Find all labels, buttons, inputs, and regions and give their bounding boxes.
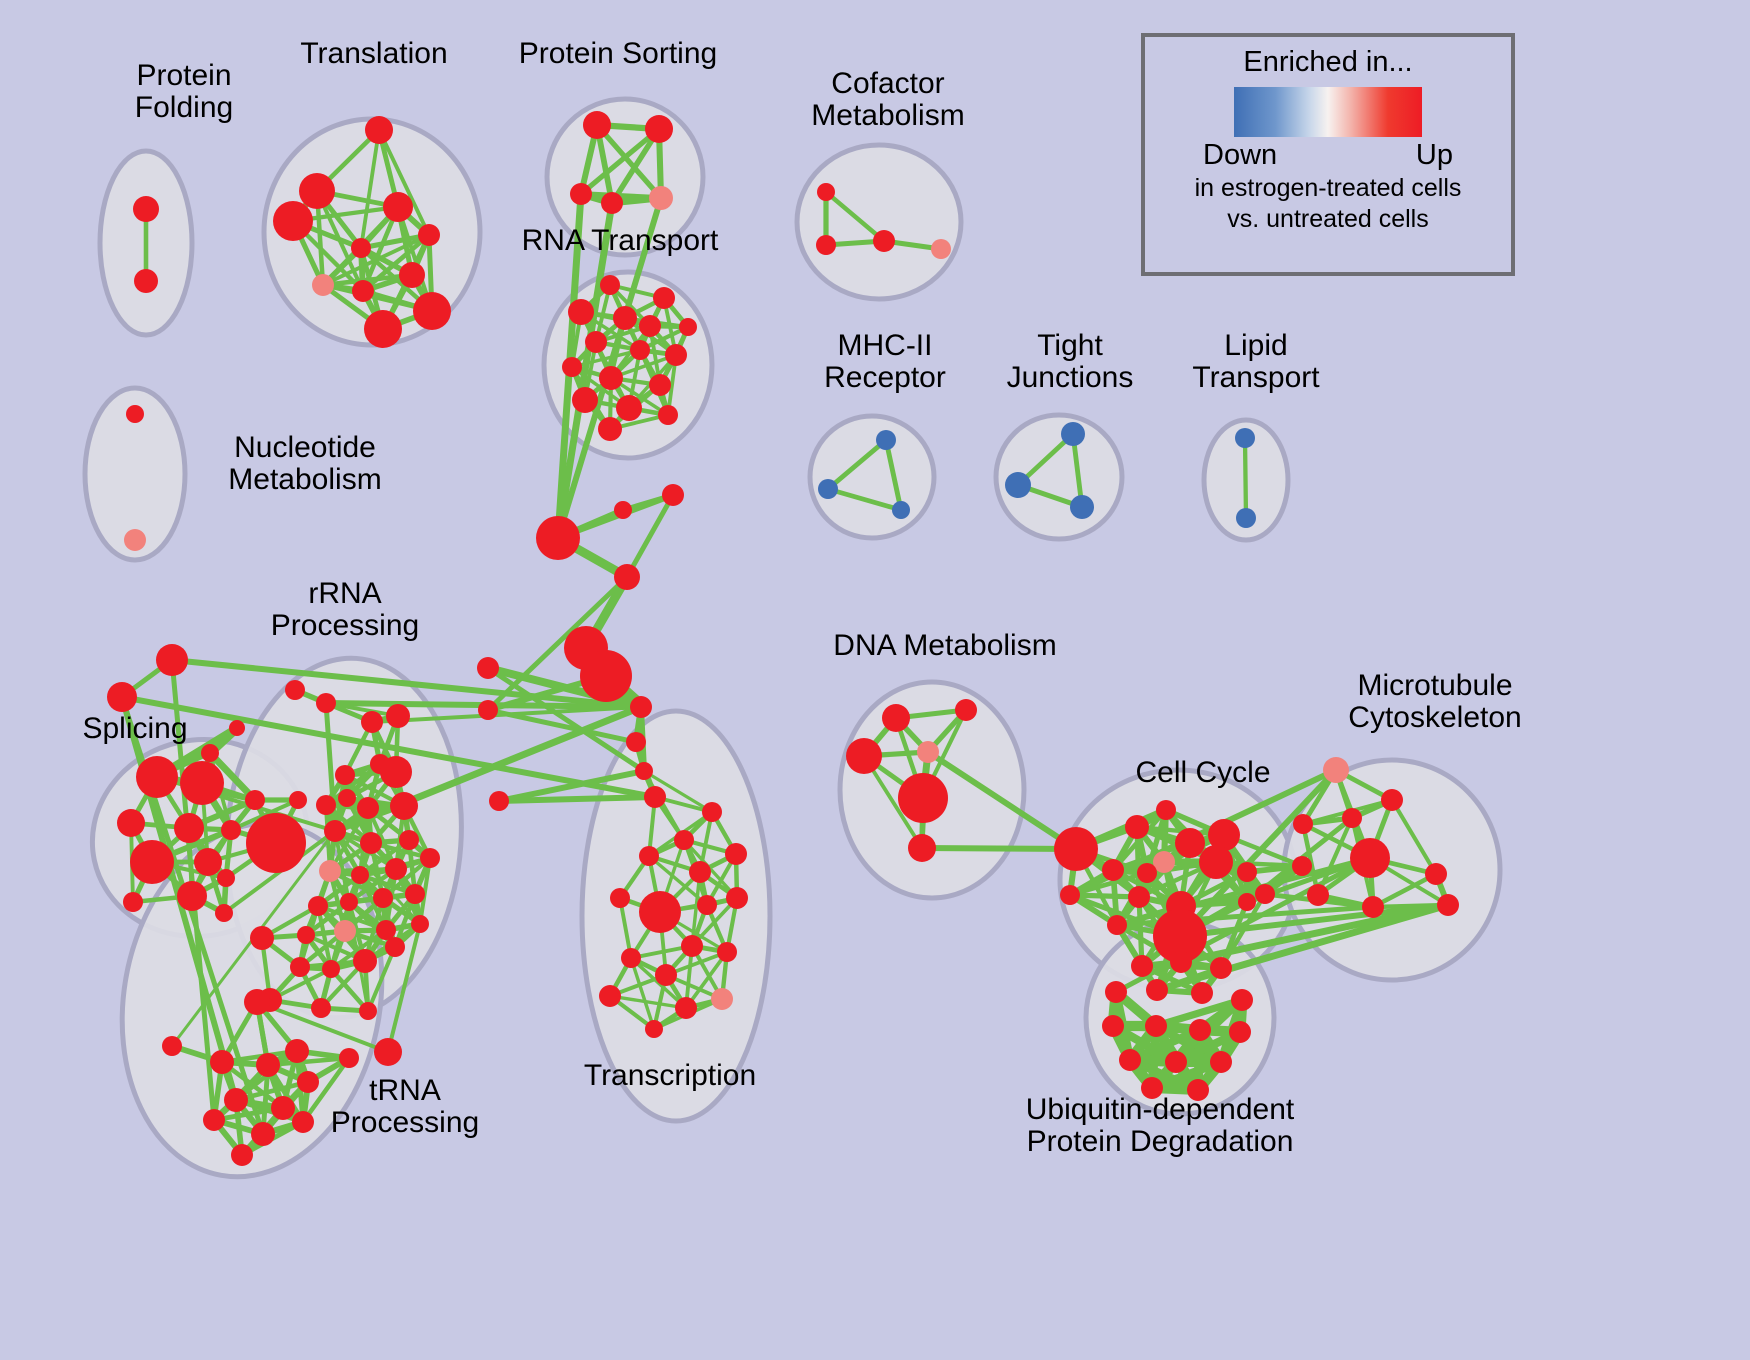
- network-node[interactable]: [312, 274, 334, 296]
- network-edge: [1245, 438, 1246, 518]
- network-node[interactable]: [598, 417, 622, 441]
- network-node[interactable]: [136, 756, 178, 798]
- network-node[interactable]: [221, 820, 241, 840]
- network-node[interactable]: [630, 696, 652, 718]
- network-node[interactable]: [352, 280, 374, 302]
- network-node[interactable]: [322, 960, 340, 978]
- network-node[interactable]: [689, 861, 711, 883]
- network-node[interactable]: [126, 405, 144, 423]
- network-node[interactable]: [536, 516, 580, 560]
- network-node[interactable]: [390, 792, 418, 820]
- network-node[interactable]: [478, 700, 498, 720]
- network-node[interactable]: [271, 1096, 295, 1120]
- network-node[interactable]: [816, 235, 836, 255]
- network-node[interactable]: [717, 942, 737, 962]
- network-node[interactable]: [1146, 979, 1168, 1001]
- network-node[interactable]: [639, 315, 661, 337]
- network-node[interactable]: [931, 239, 951, 259]
- network-node[interactable]: [882, 704, 910, 732]
- network-node[interactable]: [614, 564, 640, 590]
- network-node[interactable]: [289, 791, 307, 809]
- network-node[interactable]: [1005, 472, 1031, 498]
- network-node[interactable]: [340, 893, 358, 911]
- network-node[interactable]: [177, 881, 207, 911]
- legend-down-label: Down: [1203, 139, 1277, 172]
- network-node[interactable]: [1107, 915, 1127, 935]
- network-node[interactable]: [385, 937, 405, 957]
- network-node[interactable]: [324, 820, 346, 842]
- network-node[interactable]: [399, 830, 419, 850]
- network-node[interactable]: [374, 1038, 402, 1066]
- network-node[interactable]: [1425, 863, 1447, 885]
- network-node[interactable]: [380, 756, 412, 788]
- network-node[interactable]: [1437, 894, 1459, 916]
- network-node[interactable]: [297, 1071, 319, 1093]
- network-node[interactable]: [630, 340, 650, 360]
- network-node[interactable]: [297, 926, 315, 944]
- network-node[interactable]: [697, 895, 717, 915]
- network-node[interactable]: [601, 192, 623, 214]
- legend-endpoints: Down Up: [1203, 139, 1453, 172]
- network-node[interactable]: [292, 1111, 314, 1133]
- network-node[interactable]: [201, 744, 219, 762]
- network-node[interactable]: [955, 699, 977, 721]
- network-node[interactable]: [162, 1036, 182, 1056]
- network-node[interactable]: [174, 813, 204, 843]
- network-node[interactable]: [338, 789, 356, 807]
- network-node[interactable]: [383, 192, 413, 222]
- network-node[interactable]: [373, 888, 393, 908]
- network-node[interactable]: [1145, 1015, 1167, 1037]
- network-node[interactable]: [365, 116, 393, 144]
- network-node[interactable]: [898, 773, 948, 823]
- network-node[interactable]: [600, 275, 620, 295]
- network-node[interactable]: [1119, 1049, 1141, 1071]
- network-node[interactable]: [665, 344, 687, 366]
- network-node[interactable]: [653, 287, 675, 309]
- network-node[interactable]: [1189, 1019, 1211, 1041]
- network-node[interactable]: [616, 395, 642, 421]
- network-node[interactable]: [229, 720, 245, 736]
- network-node[interactable]: [290, 957, 310, 977]
- network-node[interactable]: [846, 738, 882, 774]
- network-node[interactable]: [599, 985, 621, 1007]
- network-node[interactable]: [217, 869, 235, 887]
- network-node[interactable]: [726, 887, 748, 909]
- network-node[interactable]: [1125, 815, 1149, 839]
- network-node[interactable]: [360, 832, 382, 854]
- network-node[interactable]: [319, 860, 341, 882]
- network-edge: [499, 797, 655, 801]
- legend-subtitle-line2: vs. untreated cells: [1227, 205, 1429, 234]
- network-node[interactable]: [1156, 800, 1176, 820]
- network-node[interactable]: [130, 840, 174, 884]
- network-node[interactable]: [1131, 955, 1153, 977]
- network-node[interactable]: [215, 904, 233, 922]
- network-node[interactable]: [1238, 893, 1256, 911]
- network-node[interactable]: [658, 405, 678, 425]
- network-node[interactable]: [411, 915, 429, 933]
- network-node[interactable]: [610, 888, 630, 908]
- network-node[interactable]: [413, 292, 451, 330]
- network-node[interactable]: [1102, 859, 1124, 881]
- network-node[interactable]: [639, 891, 681, 933]
- network-node[interactable]: [299, 173, 335, 209]
- network-node[interactable]: [1255, 884, 1275, 904]
- network-node[interactable]: [817, 183, 835, 201]
- network-node[interactable]: [1199, 845, 1233, 879]
- network-node[interactable]: [250, 926, 274, 950]
- network-edge: [922, 848, 1076, 849]
- network-node[interactable]: [1191, 982, 1213, 1004]
- network-node[interactable]: [1105, 981, 1127, 1003]
- network-node[interactable]: [251, 1122, 275, 1146]
- network-node[interactable]: [335, 765, 355, 785]
- legend-color-bar: [1234, 87, 1422, 137]
- network-node[interactable]: [1323, 757, 1349, 783]
- network-node[interactable]: [311, 998, 331, 1018]
- network-node[interactable]: [1350, 838, 1390, 878]
- network-node[interactable]: [1237, 862, 1257, 882]
- network-node[interactable]: [385, 858, 407, 880]
- network-node[interactable]: [1381, 789, 1403, 811]
- network-node[interactable]: [477, 657, 499, 679]
- network-node[interactable]: [420, 848, 440, 868]
- network-node[interactable]: [1061, 422, 1085, 446]
- network-node[interactable]: [231, 1144, 253, 1166]
- network-node[interactable]: [626, 732, 646, 752]
- network-node[interactable]: [613, 306, 637, 330]
- network-node[interactable]: [675, 997, 697, 1019]
- network-node[interactable]: [585, 331, 607, 353]
- network-node[interactable]: [351, 238, 371, 258]
- network-node[interactable]: [357, 797, 379, 819]
- network-node[interactable]: [489, 791, 509, 811]
- network-node[interactable]: [702, 802, 722, 822]
- network-node[interactable]: [635, 762, 653, 780]
- network-node[interactable]: [316, 795, 336, 815]
- network-node[interactable]: [316, 693, 336, 713]
- network-node[interactable]: [364, 310, 402, 348]
- network-node[interactable]: [908, 834, 936, 862]
- network-node[interactable]: [655, 964, 677, 986]
- network-node[interactable]: [256, 1053, 280, 1077]
- network-node[interactable]: [645, 1020, 663, 1038]
- network-node[interactable]: [386, 704, 410, 728]
- network-node[interactable]: [405, 884, 425, 904]
- network-node[interactable]: [107, 682, 137, 712]
- network-node[interactable]: [1054, 827, 1098, 871]
- network-node[interactable]: [662, 484, 684, 506]
- network-node[interactable]: [334, 920, 356, 942]
- network-node[interactable]: [273, 201, 313, 241]
- cluster-hull-cofactor-metabolism[interactable]: [797, 145, 961, 299]
- network-node[interactable]: [117, 809, 145, 837]
- network-node[interactable]: [399, 262, 425, 288]
- network-node[interactable]: [180, 761, 224, 805]
- network-node[interactable]: [339, 1048, 359, 1068]
- network-node[interactable]: [123, 892, 143, 912]
- network-node[interactable]: [246, 813, 306, 873]
- network-node[interactable]: [1187, 1079, 1209, 1101]
- network-node[interactable]: [644, 786, 666, 808]
- cluster-hull-mhc-ii-receptor[interactable]: [810, 416, 934, 538]
- legend-box: Enriched in... Down Up in estrogen-treat…: [1141, 33, 1515, 276]
- network-node[interactable]: [681, 935, 703, 957]
- network-node[interactable]: [1141, 1077, 1163, 1099]
- network-node[interactable]: [210, 1050, 234, 1074]
- network-node[interactable]: [570, 183, 592, 205]
- network-node[interactable]: [156, 644, 188, 676]
- network-node[interactable]: [639, 846, 659, 866]
- network-node[interactable]: [572, 387, 598, 413]
- network-node[interactable]: [285, 1039, 309, 1063]
- network-node[interactable]: [917, 741, 939, 763]
- network-node[interactable]: [361, 711, 383, 733]
- network-node[interactable]: [1236, 508, 1256, 528]
- network-node[interactable]: [224, 1088, 248, 1112]
- network-node[interactable]: [1165, 1051, 1187, 1073]
- network-node[interactable]: [1210, 1051, 1232, 1073]
- network-node[interactable]: [353, 949, 377, 973]
- network-node[interactable]: [285, 680, 305, 700]
- network-node[interactable]: [1342, 808, 1362, 828]
- network-node[interactable]: [1307, 884, 1329, 906]
- cluster-hull-protein-sorting[interactable]: [547, 99, 703, 255]
- network-node[interactable]: [1292, 856, 1312, 876]
- legend-up-label: Up: [1416, 139, 1453, 172]
- network-node[interactable]: [124, 529, 146, 551]
- network-node[interactable]: [876, 430, 896, 450]
- network-node[interactable]: [649, 186, 673, 210]
- network-node[interactable]: [873, 230, 895, 252]
- legend-subtitle-line1: in estrogen-treated cells: [1195, 174, 1462, 203]
- network-node[interactable]: [418, 224, 440, 246]
- network-node[interactable]: [133, 196, 159, 222]
- network-node[interactable]: [621, 948, 641, 968]
- network-node[interactable]: [203, 1109, 225, 1131]
- network-node[interactable]: [580, 650, 632, 702]
- network-node[interactable]: [1102, 1015, 1124, 1037]
- network-node[interactable]: [614, 501, 632, 519]
- network-node[interactable]: [583, 111, 611, 139]
- network-node[interactable]: [351, 866, 369, 884]
- network-node[interactable]: [1128, 886, 1150, 908]
- network-node[interactable]: [1293, 814, 1313, 834]
- network-node[interactable]: [674, 830, 694, 850]
- network-node[interactable]: [1229, 1021, 1251, 1043]
- network-node[interactable]: [1137, 863, 1157, 883]
- network-node[interactable]: [1170, 951, 1192, 973]
- network-figure: Protein FoldingTranslationNucleotide Met…: [0, 0, 1750, 1360]
- network-node[interactable]: [1070, 495, 1094, 519]
- legend-title: Enriched in...: [1243, 46, 1412, 79]
- network-node[interactable]: [1060, 885, 1080, 905]
- network-node[interactable]: [568, 299, 594, 325]
- network-node[interactable]: [818, 479, 838, 499]
- network-node[interactable]: [1175, 828, 1205, 858]
- network-node[interactable]: [599, 366, 623, 390]
- network-node[interactable]: [359, 1002, 377, 1020]
- network-node[interactable]: [134, 269, 158, 293]
- network-node[interactable]: [194, 848, 222, 876]
- network-node[interactable]: [1210, 957, 1232, 979]
- network-node[interactable]: [892, 501, 910, 519]
- network-node[interactable]: [1362, 896, 1384, 918]
- network-node[interactable]: [645, 115, 673, 143]
- network-node[interactable]: [245, 790, 265, 810]
- network-node[interactable]: [376, 920, 396, 940]
- network-node[interactable]: [1231, 989, 1253, 1011]
- network-node[interactable]: [1235, 428, 1255, 448]
- network-node[interactable]: [649, 374, 671, 396]
- network-node[interactable]: [244, 989, 270, 1015]
- network-node[interactable]: [725, 843, 747, 865]
- network-node[interactable]: [679, 318, 697, 336]
- network-node[interactable]: [711, 988, 733, 1010]
- network-node[interactable]: [308, 896, 328, 916]
- network-node[interactable]: [562, 357, 582, 377]
